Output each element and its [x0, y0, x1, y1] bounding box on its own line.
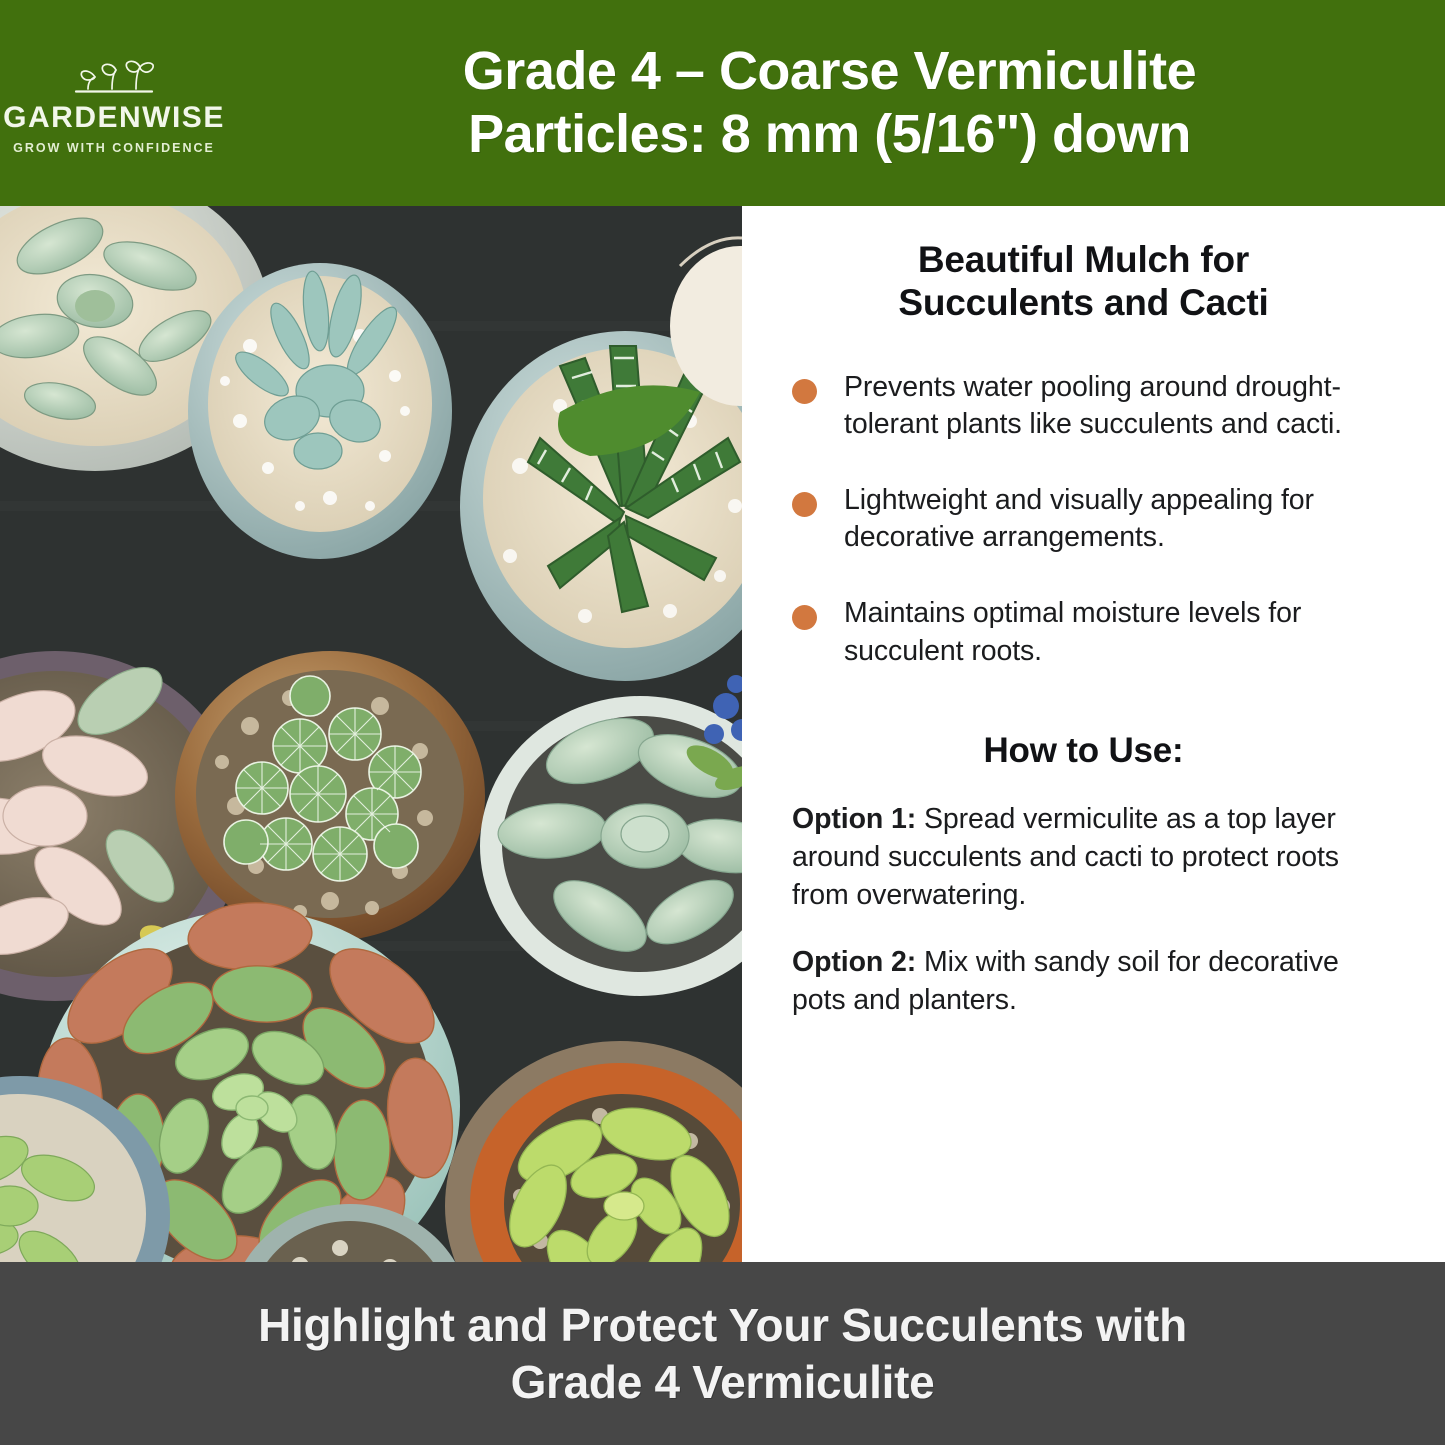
- option-1-label: Option 1:: [792, 803, 916, 835]
- product-photo: [0, 206, 742, 1262]
- bullet-dot-icon: [792, 379, 817, 404]
- footer-line-1: Highlight and Protect Your Succulents wi…: [258, 1299, 1187, 1351]
- panel-heading: Beautiful Mulch for Succulents and Cacti: [768, 238, 1399, 325]
- list-item: Lightweight and visually appealing for d…: [792, 482, 1399, 557]
- bullet-dot-icon: [792, 492, 817, 517]
- succulent-photo-illustration: [0, 206, 742, 1262]
- brand-logo: GARDENWISE GROW WITH CONFIDENCE: [0, 51, 228, 155]
- option-2: Option 2: Mix with sandy soil for decora…: [768, 944, 1399, 1020]
- title-line-2: Particles: 8 mm (5/16") down: [228, 103, 1431, 166]
- list-item: Prevents water pooling around drought-to…: [792, 369, 1399, 444]
- header-banner: GARDENWISE GROW WITH CONFIDENCE Grade 4 …: [0, 0, 1445, 206]
- seedling-sprout-icon: [68, 55, 160, 99]
- panel-heading-line-2: Succulents and Cacti: [898, 282, 1268, 323]
- footer-line-2: Grade 4 Vermiculite: [258, 1354, 1187, 1410]
- title-line-1: Grade 4 – Coarse Vermiculite: [463, 41, 1196, 101]
- benefits-list: Prevents water pooling around drought-to…: [768, 369, 1399, 671]
- how-to-use-heading: How to Use:: [768, 732, 1399, 771]
- page-title: Grade 4 – Coarse Vermiculite Particles: …: [228, 40, 1445, 165]
- option-2-label: Option 2:: [792, 946, 916, 978]
- bullet-text: Maintains optimal moisture levels for su…: [844, 595, 1399, 670]
- brand-tagline: GROW WITH CONFIDENCE: [13, 142, 215, 155]
- list-item: Maintains optimal moisture levels for su…: [792, 595, 1399, 670]
- bullet-text: Prevents water pooling around drought-to…: [844, 369, 1399, 444]
- bullet-text: Lightweight and visually appealing for d…: [844, 482, 1399, 557]
- bullet-dot-icon: [792, 605, 817, 630]
- option-1: Option 1: Spread vermiculite as a top la…: [768, 801, 1399, 915]
- footer-tagline: Highlight and Protect Your Succulents wi…: [218, 1297, 1227, 1409]
- panel-heading-line-1: Beautiful Mulch for: [918, 239, 1249, 280]
- brand-name: GARDENWISE: [3, 103, 225, 133]
- product-infographic: GARDENWISE GROW WITH CONFIDENCE Grade 4 …: [0, 0, 1445, 1445]
- benefits-panel: Beautiful Mulch for Succulents and Cacti…: [742, 206, 1445, 1262]
- footer-banner: Highlight and Protect Your Succulents wi…: [0, 1262, 1445, 1445]
